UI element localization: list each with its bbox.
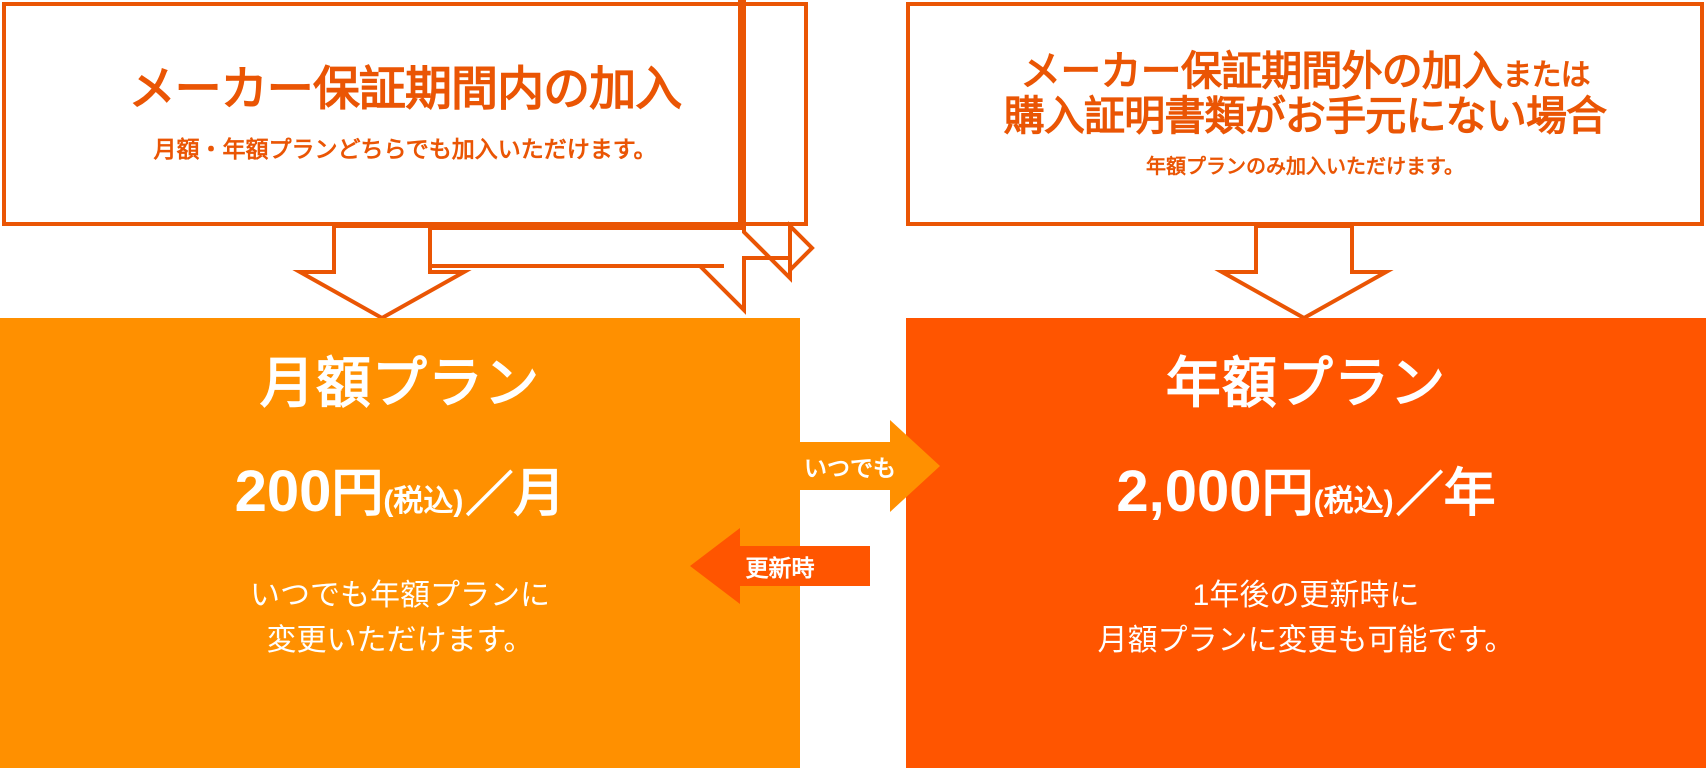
- plan-price: 200円(税込)／月: [235, 463, 566, 521]
- plan-card-annual: 年額プラン 2,000円(税込)／年 1年後の更新時に 月額プランに変更も可能で…: [906, 318, 1706, 768]
- arrow-down-to-annual: [1222, 226, 1386, 318]
- condition-title: メーカー保証期間内の加入: [129, 64, 682, 115]
- arrow-down-to-monthly: [300, 226, 464, 318]
- plan-card-monthly: 月額プラン 200円(税込)／月 いつでも年額プランに 変更いただけます。: [0, 318, 800, 768]
- plan-price-period: 年: [1444, 468, 1496, 520]
- plan-price-currency: 円: [1262, 468, 1314, 520]
- swap-arrow-downgrade: 更新時: [690, 528, 870, 604]
- plan-price: 2,000円(税込)／年: [1116, 463, 1495, 521]
- plan-price-period: 月: [513, 468, 565, 520]
- plan-price-separator: ／: [1396, 472, 1444, 520]
- plan-price-amount: 2,000: [1116, 463, 1261, 521]
- swap-arrow-label: いつでも: [804, 449, 896, 483]
- plan-price-tax-note: (税込): [1314, 487, 1394, 517]
- condition-subtitle: 年額プランのみ加入いただけます。: [1146, 150, 1464, 179]
- condition-title-line2: 購入証明書類がお手元にない場合: [1004, 94, 1607, 138]
- condition-subtitle: 月額・年額プランどちらでも加入いただけます。: [153, 130, 656, 164]
- swap-arrow-upgrade: いつでも: [760, 420, 940, 512]
- condition-box-outside-warranty: メーカー保証期間外の加入または 購入証明書類がお手元にない場合 年額プランのみ加…: [906, 2, 1704, 226]
- plan-note: いつでも年額プランに 変更いただけます。: [250, 573, 550, 663]
- condition-title: メーカー保証期間外の加入または: [1020, 49, 1590, 93]
- plan-price-currency: 円: [331, 468, 383, 520]
- plan-name: 月額プラン: [260, 356, 541, 411]
- plan-price-tax-note: (税込): [383, 487, 463, 517]
- plan-price-separator: ／: [465, 472, 513, 520]
- condition-title-text: メーカー保証期間外の加入: [1020, 48, 1502, 94]
- swap-arrow-label: 更新時: [746, 549, 815, 583]
- condition-box-within-warranty: メーカー保証期間内の加入 月額・年額プランどちらでも加入いただけます。: [2, 2, 808, 226]
- plan-name: 年額プラン: [1166, 356, 1447, 411]
- condition-title-suffix: または: [1502, 59, 1590, 92]
- condition-title-text: メーカー保証期間内の加入: [129, 62, 682, 115]
- plan-price-amount: 200: [235, 463, 332, 521]
- plan-note: 1年後の更新時に 月額プランに変更も可能です。: [1098, 573, 1515, 663]
